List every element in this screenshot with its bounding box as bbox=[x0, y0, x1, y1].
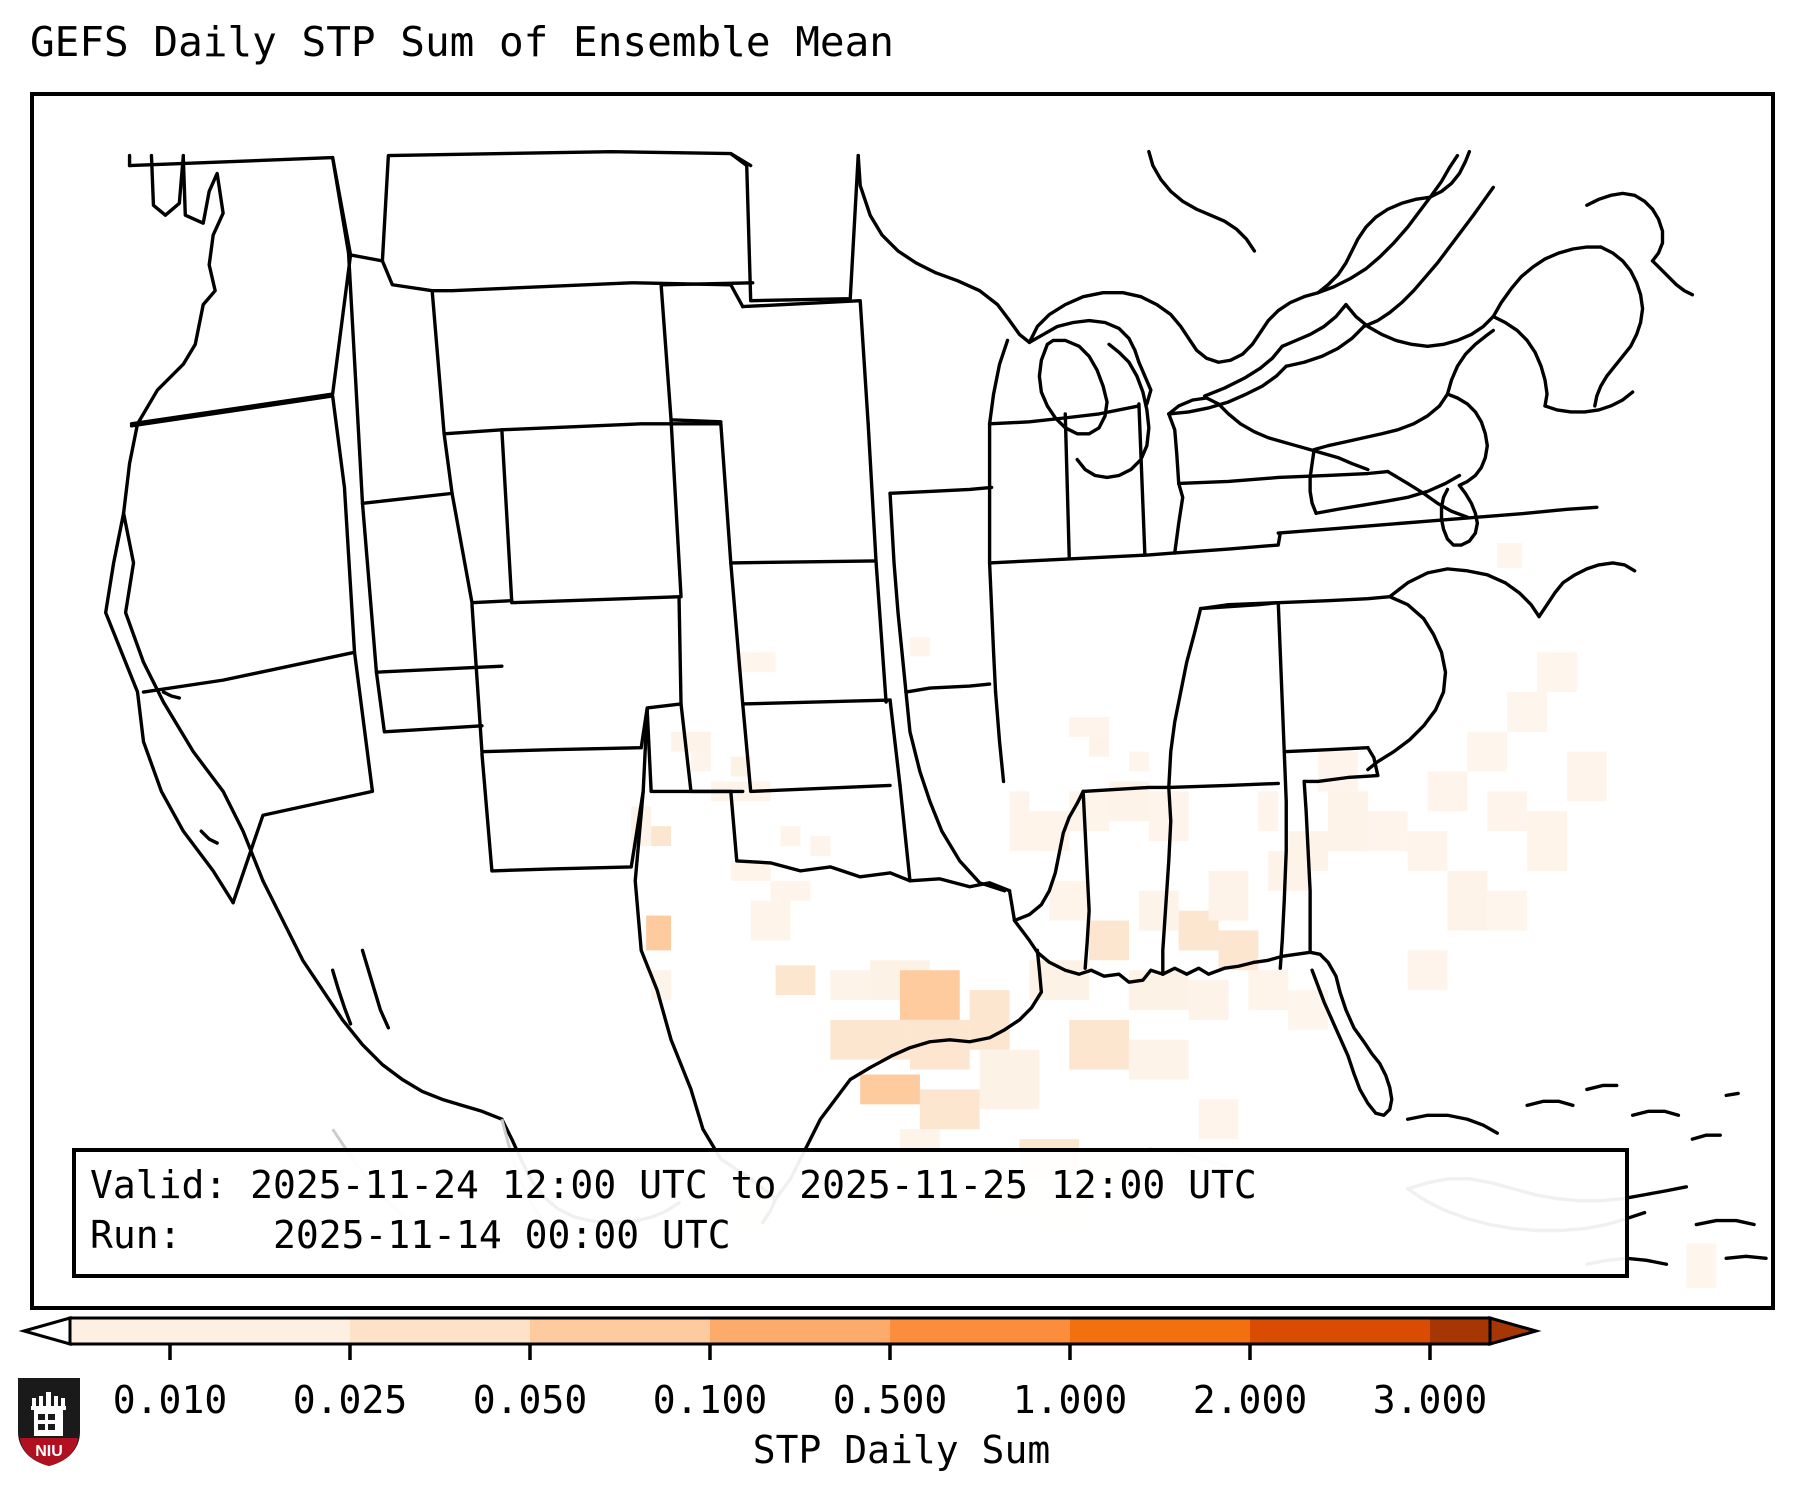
basemap-outlines bbox=[34, 96, 1771, 1306]
niu-logo: NIU bbox=[14, 1374, 84, 1468]
colorbar-band bbox=[1250, 1318, 1430, 1344]
colorbar-ticks bbox=[170, 1344, 1430, 1360]
colorbar-band bbox=[1430, 1318, 1490, 1344]
colorbar-band bbox=[890, 1318, 1070, 1344]
valid-run-infobox: Valid: 2025-11-24 12:00 UTC to 2025-11-2… bbox=[72, 1148, 1629, 1278]
colorbar-axis-label: STP Daily Sum bbox=[0, 1428, 1803, 1472]
colorbar[interactable] bbox=[0, 1316, 1803, 1376]
colorbar-tick-label: 0.025 bbox=[293, 1378, 407, 1422]
colorbar-band bbox=[710, 1318, 890, 1344]
run-time-text: Run: 2025-11-14 00:00 UTC bbox=[90, 1210, 1611, 1260]
colorbar-tick-labels: 0.0100.0250.0500.1000.5001.0002.0003.000 bbox=[0, 1378, 1803, 1426]
colorbar-tick-label: 0.100 bbox=[653, 1378, 767, 1422]
colorbar-band bbox=[170, 1318, 350, 1344]
colorbar-under-arrow bbox=[24, 1318, 70, 1344]
colorbar-tick-label: 0.010 bbox=[113, 1378, 227, 1422]
colorbar-tick-label: 0.050 bbox=[473, 1378, 587, 1422]
logo-text: NIU bbox=[35, 1443, 63, 1460]
colorbar-band bbox=[70, 1318, 170, 1344]
colorbar-over-arrow bbox=[1490, 1318, 1536, 1344]
colorbar-band bbox=[350, 1318, 530, 1344]
colorbar-tick-label: 2.000 bbox=[1193, 1378, 1307, 1422]
valid-time-text: Valid: 2025-11-24 12:00 UTC to 2025-11-2… bbox=[90, 1160, 1611, 1210]
colorbar-svg[interactable] bbox=[0, 1316, 1803, 1376]
page-title: GEFS Daily STP Sum of Ensemble Mean bbox=[30, 18, 894, 66]
map-panel: Valid: 2025-11-24 12:00 UTC to 2025-11-2… bbox=[30, 92, 1775, 1310]
colorbar-band bbox=[530, 1318, 710, 1344]
colorbar-tick-label: 0.500 bbox=[833, 1378, 947, 1422]
colorbar-band bbox=[1070, 1318, 1250, 1344]
colorbar-tick-label: 3.000 bbox=[1373, 1378, 1487, 1422]
colorbar-bands bbox=[24, 1318, 1536, 1344]
colorbar-tick-label: 1.000 bbox=[1013, 1378, 1127, 1422]
